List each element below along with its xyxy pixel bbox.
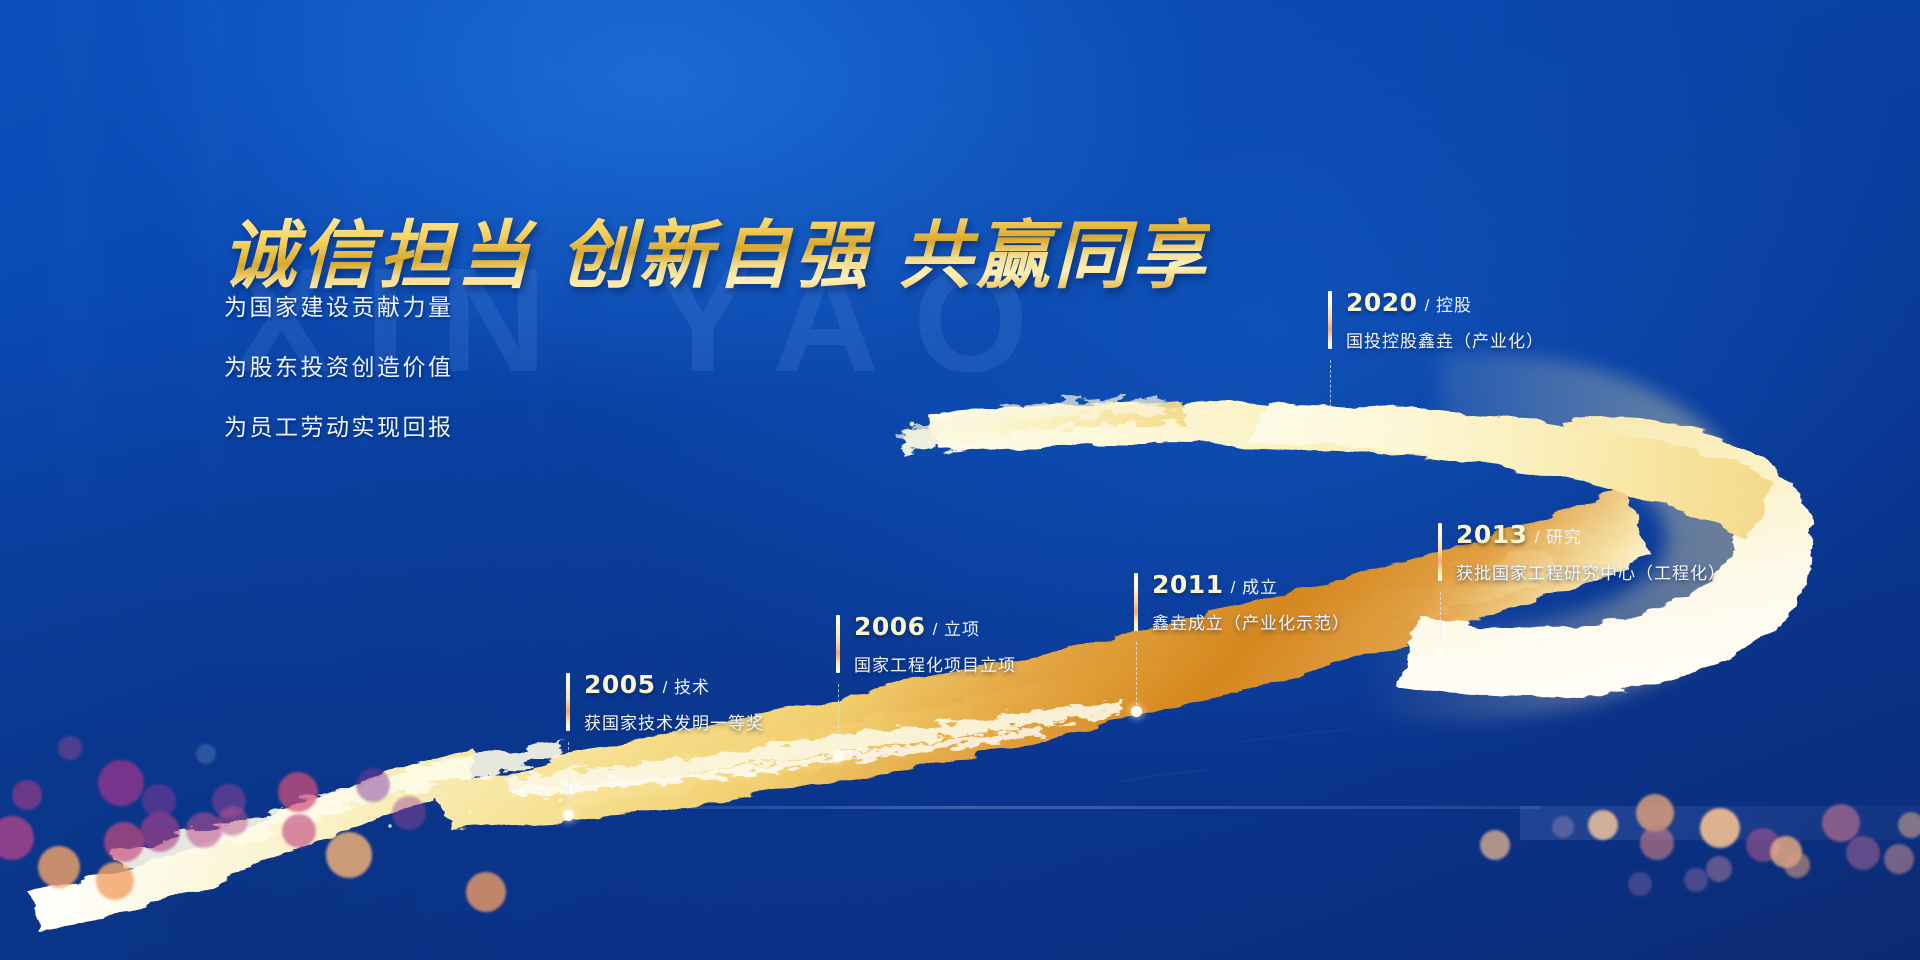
timeline-entry-2011[interactable]: 2011 / 成立 鑫垚成立（产业化示范）: [1134, 570, 1350, 634]
timeline-desc: 获国家技术发明一等奖: [584, 709, 764, 734]
timeline-year: 2006: [854, 612, 926, 641]
timeline-year-row: 2005 / 技术: [584, 670, 764, 699]
timeline-desc: 获批国家工程研究中心（工程化）: [1456, 559, 1726, 584]
banner-canvas: XIN YAO 诚信担当创新自强共赢同享 为国家建设贡献力量 为股东投资创造价值…: [0, 0, 1920, 960]
timeline-tag: / 研究: [1535, 523, 1582, 548]
timeline-entry-2006[interactable]: 2006 / 立项 国家工程化项目立项: [836, 612, 1016, 676]
timeline-year: 2013: [1456, 520, 1528, 549]
timeline-year: 2020: [1346, 288, 1418, 317]
timeline-dot-2005: [563, 810, 574, 821]
timeline-desc: 国投控股鑫垚（产业化）: [1346, 327, 1544, 352]
timeline-dot-2006: [833, 750, 844, 761]
marker-bar-icon: [1438, 523, 1442, 581]
light-streaks-decoration: [0, 0, 1920, 960]
marker-bar-icon: [1134, 573, 1138, 631]
leader-line-2005: [568, 742, 569, 814]
marker-bar-icon: [836, 615, 840, 673]
timeline-year-row: 2020 / 控股: [1346, 288, 1544, 317]
headline-part-3: 共赢同享: [898, 213, 1210, 299]
leader-line-2006: [838, 684, 839, 754]
timeline-desc: 国家工程化项目立项: [854, 651, 1016, 676]
slogan-item: 为员工劳动实现回报: [224, 408, 454, 442]
slogan-item: 为股东投资创造价值: [224, 348, 454, 382]
headline-part-2: 创新自强: [560, 213, 872, 299]
timeline-tag: / 技术: [663, 673, 710, 698]
timeline-year-row: 2011 / 成立: [1152, 570, 1350, 599]
page-title: 诚信担当创新自强共赢同享: [222, 196, 1210, 303]
timeline-dot-2011: [1131, 706, 1142, 717]
horizon-band-decoration: [1520, 806, 1920, 840]
leader-line-2011: [1136, 642, 1137, 710]
timeline-year-row: 2013 / 研究: [1456, 520, 1726, 549]
timeline-year: 2005: [584, 670, 656, 699]
leader-line-2020: [1330, 360, 1331, 422]
marker-bar-icon: [566, 673, 570, 731]
timeline-year-row: 2006 / 立项: [854, 612, 1016, 641]
headline-part-1: 诚信担当: [222, 213, 534, 299]
timeline-tag: / 立项: [933, 615, 980, 640]
timeline-dot-2013: [1435, 646, 1446, 657]
timeline-tag: / 成立: [1231, 573, 1278, 598]
timeline-entry-2005[interactable]: 2005 / 技术 获国家技术发明一等奖: [566, 670, 764, 734]
slogan-list: 为国家建设贡献力量 为股东投资创造价值 为员工劳动实现回报: [224, 288, 454, 468]
marker-bar-icon: [1328, 291, 1332, 349]
timeline-desc: 鑫垚成立（产业化示范）: [1152, 609, 1350, 634]
timeline-entry-2013[interactable]: 2013 / 研究 获批国家工程研究中心（工程化）: [1438, 520, 1726, 584]
leader-line-2013: [1440, 592, 1441, 650]
timeline-year: 2011: [1152, 570, 1224, 599]
gold-brush-ribbon-graphic: [0, 0, 1920, 960]
timeline-tag: / 控股: [1425, 291, 1472, 316]
timeline-entry-2020[interactable]: 2020 / 控股 国投控股鑫垚（产业化）: [1328, 288, 1544, 352]
horizon-line-decoration: [480, 806, 1540, 809]
slogan-item: 为国家建设贡献力量: [224, 288, 454, 322]
